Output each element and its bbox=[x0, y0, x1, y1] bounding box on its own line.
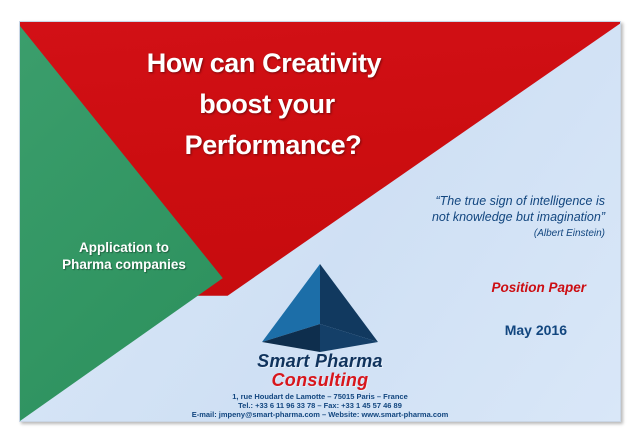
slide-subtitle: Application to Pharma companies bbox=[24, 239, 224, 273]
document-type-label: Position Paper bbox=[491, 280, 586, 295]
slide-title: How can Creativity boost your Performanc… bbox=[64, 43, 464, 166]
slide-canvas: How can Creativity boost your Performanc… bbox=[0, 0, 640, 443]
quotation-line-1: “The true sign of intelligence is bbox=[315, 193, 605, 209]
title-slide: How can Creativity boost your Performanc… bbox=[19, 21, 621, 422]
footer-contact: E-mail: jmpeny@smart-pharma.com – Websit… bbox=[20, 410, 620, 419]
company-logo: Smart Pharma Consulting bbox=[215, 262, 425, 390]
quotation-author: (Albert Einstein) bbox=[315, 226, 605, 242]
logo-wordmark-secondary: Consulting bbox=[215, 371, 425, 390]
slide-subtitle-line-2: Pharma companies bbox=[24, 256, 224, 273]
footer-contact-block: 1, rue Houdart de Lamotte – 75015 Paris … bbox=[20, 392, 620, 420]
slide-title-line-3: Performance? bbox=[64, 125, 464, 166]
slide-title-line-1: How can Creativity bbox=[64, 43, 464, 84]
slide-subtitle-line-1: Application to bbox=[24, 239, 224, 256]
document-date: May 2016 bbox=[505, 322, 567, 338]
footer-phone: Tel.: +33 6 11 96 33 78 – Fax: +33 1 45 … bbox=[20, 401, 620, 410]
logo-wordmark-primary: Smart Pharma bbox=[215, 352, 425, 371]
footer-address: 1, rue Houdart de Lamotte – 75015 Paris … bbox=[20, 392, 620, 401]
pyramid-logo-icon bbox=[257, 262, 383, 354]
slide-title-line-2: boost your bbox=[64, 84, 464, 125]
quotation-line-2: not knowledge but imagination” bbox=[315, 209, 605, 225]
quotation: “The true sign of intelligence is not kn… bbox=[315, 193, 605, 242]
